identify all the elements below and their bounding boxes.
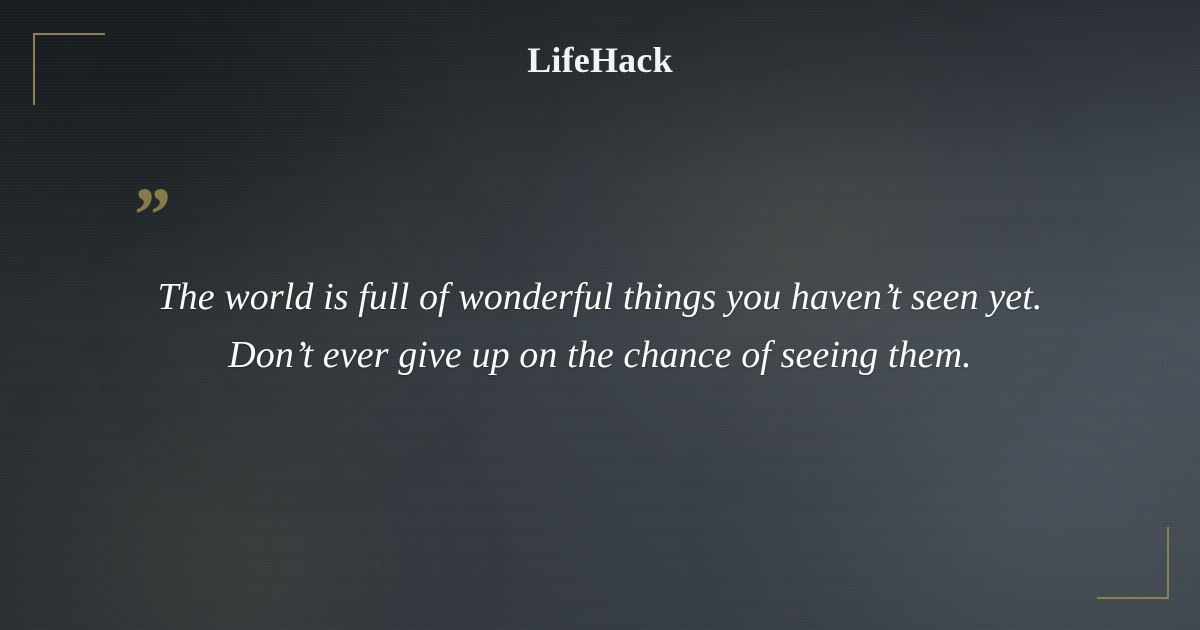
quote-block: ” The world is full of wonderful things … (0, 0, 1200, 630)
quote-card: LifeHack ” The world is full of wonderfu… (0, 0, 1200, 630)
quote-line: The world is full of wonderful things yo… (100, 268, 1100, 326)
quote-text: The world is full of wonderful things yo… (100, 268, 1100, 384)
quote-mark-icon: ” (130, 176, 169, 254)
quote-line: Don’t ever give up on the chance of seei… (100, 326, 1100, 384)
